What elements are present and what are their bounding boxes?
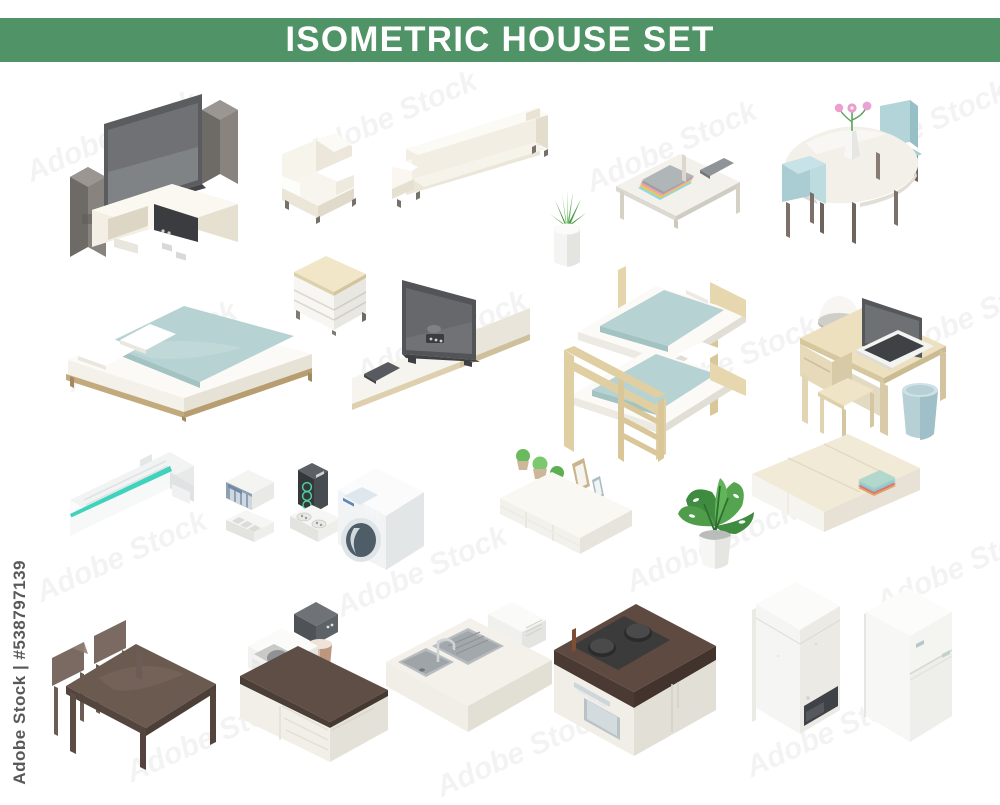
sideboard[interactable]: [496, 442, 644, 562]
stock-watermark-id: Adobe Stock | #538797139: [10, 560, 30, 785]
dining-table-set[interactable]: [776, 98, 936, 248]
refrigerator-back[interactable]: [748, 580, 844, 752]
double-bed[interactable]: [62, 282, 320, 422]
light-switch[interactable]: [222, 504, 280, 546]
low-bench-cabinet[interactable]: [748, 432, 926, 544]
bunk-bed[interactable]: [560, 262, 750, 462]
tv-console[interactable]: [348, 268, 534, 424]
monstera-leaves: [678, 478, 754, 534]
stove-oven-unit[interactable]: [550, 586, 720, 742]
refrigerator-front[interactable]: [862, 582, 958, 754]
armchair[interactable]: [276, 130, 372, 225]
page-title: ISOMETRIC HOUSE SET: [285, 20, 714, 60]
air-conditioner[interactable]: [66, 448, 198, 558]
poster-canvas: Adobe Stock Adobe Stock Adobe Stock Adob…: [0, 0, 1000, 800]
kitchen-sink-counter[interactable]: [382, 590, 560, 742]
grass-leaves: [550, 190, 586, 226]
potted-grass-plant[interactable]: [540, 180, 594, 270]
washing-machine[interactable]: [334, 462, 430, 572]
kitchen-counter-appliances[interactable]: [236, 594, 392, 744]
desk-workspace[interactable]: [796, 276, 956, 446]
title-banner: ISOMETRIC HOUSE SET: [0, 18, 1000, 62]
sofa[interactable]: [388, 105, 558, 225]
tower-speaker-right: [202, 100, 238, 184]
flat-screen-tv: [402, 280, 480, 367]
dining-chair-near: [782, 156, 826, 238]
tv-entertainment-center[interactable]: [62, 92, 262, 267]
dark-dining-table[interactable]: [44, 608, 226, 770]
coffee-table[interactable]: [608, 138, 748, 230]
